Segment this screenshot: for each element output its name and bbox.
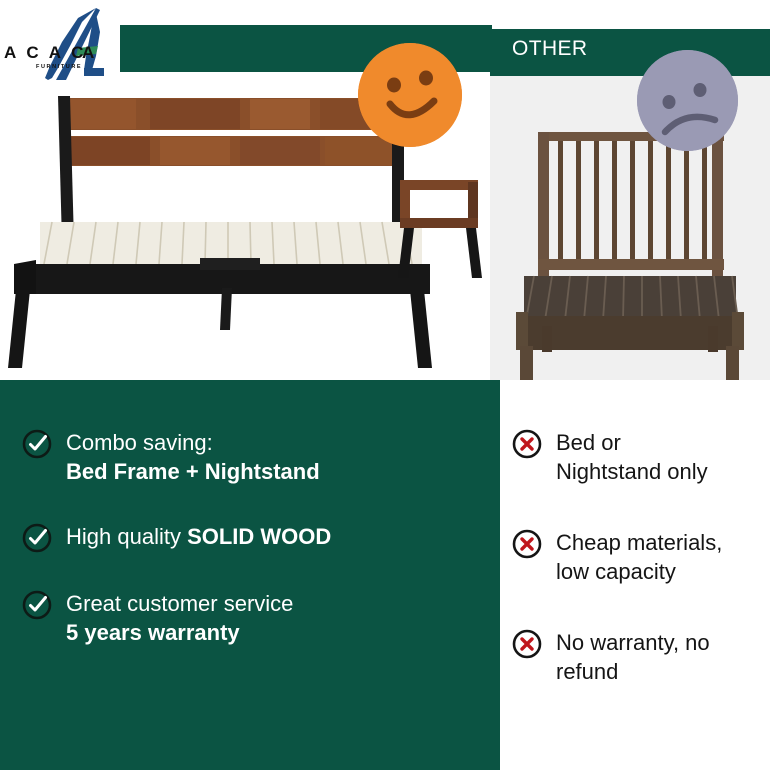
svg-text:A C A C: A C A C <box>4 43 86 62</box>
cons-item-line1: Cheap materials, <box>556 528 722 557</box>
pros-item-text: High quality SOLID WOOD <box>66 522 331 551</box>
pros-panel: Combo saving: Bed Frame + Nightstand Hig… <box>0 380 500 770</box>
pros-item-line2: SOLID WOOD <box>187 524 331 549</box>
happy-face-icon <box>358 43 462 147</box>
pros-item-text: Great customer service 5 years warranty <box>66 589 293 647</box>
pros-item-line1: High quality <box>66 524 187 549</box>
x-circle-icon <box>512 629 542 659</box>
check-circle-icon <box>22 429 52 459</box>
list-item: Bed or Nightstand only <box>512 428 770 486</box>
svg-text:FURNITURE: FURNITURE <box>36 64 82 70</box>
cons-list: Bed or Nightstand only Cheap materials, … <box>512 428 770 686</box>
pros-item-line1: Great customer service <box>66 589 293 618</box>
pros-item-line1: Combo saving: <box>66 428 320 457</box>
list-item: Cheap materials, low capacity <box>512 528 770 586</box>
cons-item-line2: refund <box>556 657 710 686</box>
header-other-label: OTHER <box>512 38 588 59</box>
cons-item-line2: low capacity <box>556 557 722 586</box>
check-circle-icon <box>22 590 52 620</box>
list-item: No warranty, no refund <box>512 628 770 686</box>
cons-item-line1: No warranty, no <box>556 628 710 657</box>
list-item: Combo saving: Bed Frame + Nightstand <box>22 428 462 486</box>
sad-face-icon <box>637 50 738 151</box>
acacia-swoosh-logo: A C A C A FURNITURE <box>0 6 125 82</box>
cons-item-text: Cheap materials, low capacity <box>556 528 722 586</box>
cons-item-text: No warranty, no refund <box>556 628 710 686</box>
pros-list: Combo saving: Bed Frame + Nightstand Hig… <box>22 428 462 647</box>
infographic-root: OTHER A C A C A FURNITURE <box>0 0 770 770</box>
cons-item-line2: Nightstand only <box>556 457 708 486</box>
pros-item-line2: Bed Frame + Nightstand <box>66 457 320 486</box>
list-item: Great customer service 5 years warranty <box>22 589 462 647</box>
pros-item-text: Combo saving: Bed Frame + Nightstand <box>66 428 320 486</box>
cons-item-line1: Bed or <box>556 428 708 457</box>
x-circle-icon <box>512 429 542 459</box>
list-item: High quality SOLID WOOD <box>22 522 462 553</box>
svg-text:A: A <box>82 43 97 62</box>
x-circle-icon <box>512 529 542 559</box>
cons-item-text: Bed or Nightstand only <box>556 428 708 486</box>
check-circle-icon <box>22 523 52 553</box>
cons-panel: Bed or Nightstand only Cheap materials, … <box>500 380 770 770</box>
pros-item-line2: 5 years warranty <box>66 618 293 647</box>
